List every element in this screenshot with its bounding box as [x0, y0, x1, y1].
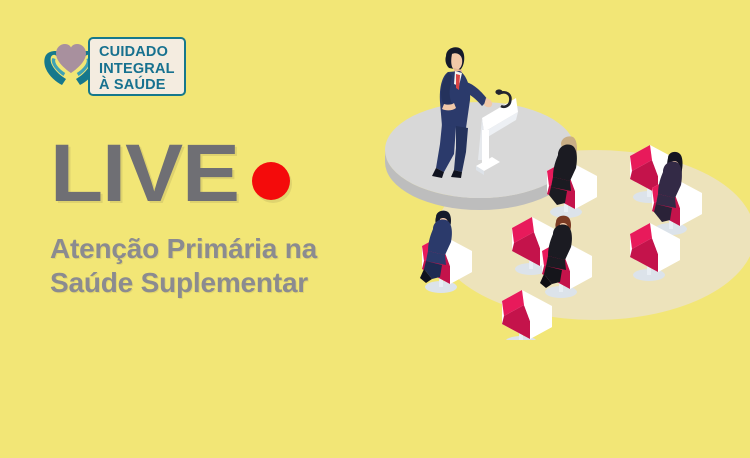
live-headline: LIVE: [50, 133, 290, 215]
event-subtitle: Atenção Primária na Saúde Suplementar: [50, 232, 380, 300]
live-indicator-dot: [252, 162, 290, 200]
subtitle-line-2: Saúde Suplementar: [50, 266, 380, 300]
live-word: LIVE: [50, 133, 239, 215]
logo-line-2: INTEGRAL: [99, 61, 184, 78]
live-event-banner: CUIDADO INTEGRAL À SAÚDE LIVE Atenção Pr…: [0, 0, 750, 458]
subtitle-line-1: Atenção Primária na: [50, 232, 380, 266]
logo-line-3: À SAÚDE: [99, 77, 184, 94]
logo-text-box: CUIDADO INTEGRAL À SAÚDE: [88, 37, 186, 96]
conference-illustration: [370, 20, 750, 340]
logo-line-1: CUIDADO: [99, 44, 184, 61]
brand-logo: CUIDADO INTEGRAL À SAÚDE: [40, 30, 190, 102]
